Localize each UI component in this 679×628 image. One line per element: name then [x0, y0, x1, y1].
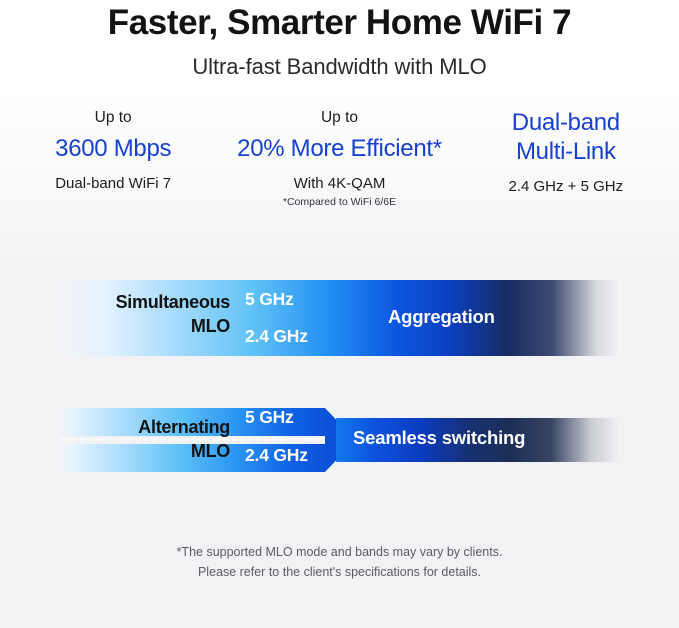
page-title: Faster, Smarter Home WiFi 7	[0, 2, 679, 44]
stat-value: 3600 Mbps	[6, 134, 220, 163]
outcome-label-seamless-switching: Seamless switching	[353, 427, 525, 449]
stat-value-line2: Multi-Link	[459, 137, 673, 166]
stats-row: Up to 3600 Mbps Dual-band WiFi 7 Up to 2…	[0, 108, 679, 209]
mlo-mode-label-line1: Alternating	[138, 417, 230, 437]
stat-subtitle: Dual-band WiFi 7	[6, 174, 220, 193]
infographic-page: Faster, Smarter Home WiFi 7 Ultra-fast B…	[0, 0, 679, 628]
stat-value-line1: Dual-band	[459, 108, 673, 137]
stat-subtitle: 2.4 GHz + 5 GHz	[459, 177, 673, 196]
footnote: *The supported MLO mode and bands may va…	[0, 542, 679, 582]
mlo-mode-label-line2: MLO	[60, 439, 230, 463]
footnote-line-1: *The supported MLO mode and bands may va…	[0, 542, 679, 562]
page-subtitle: Ultra-fast Bandwidth with MLO	[0, 54, 679, 80]
diagram-simultaneous-mlo: Simultaneous MLO 5 GHz 2.4 GHz Aggregati…	[0, 273, 679, 363]
stat-footnote: *Compared to WiFi 6/6E	[232, 196, 446, 209]
mlo-mode-label: Simultaneous MLO	[60, 290, 230, 338]
mlo-mode-label-line1: Simultaneous	[116, 292, 230, 312]
stat-value: 20% More Efficient*	[232, 134, 446, 163]
band-label-24ghz: 2.4 GHz	[245, 445, 308, 466]
stat-eyebrow: Up to	[232, 108, 446, 127]
mlo-mode-label: Alternating MLO	[60, 415, 230, 463]
stat-card-multilink: Dual-band Multi-Link 2.4 GHz + 5 GHz	[453, 108, 679, 196]
stat-card-bandwidth: Up to 3600 Mbps Dual-band WiFi 7	[0, 108, 226, 193]
footnote-line-2: Please refer to the client's specificati…	[0, 562, 679, 582]
band-label-24ghz: 2.4 GHz	[245, 326, 308, 347]
diagram-alternating-mlo: Alternating MLO 5 GHz 2.4 GHz Seamless s…	[0, 398, 679, 488]
mlo-mode-label-line2: MLO	[60, 314, 230, 338]
stat-card-efficiency: Up to 20% More Efficient* With 4K-QAM *C…	[226, 108, 452, 209]
stat-eyebrow: Up to	[6, 108, 220, 127]
band-label-5ghz: 5 GHz	[245, 407, 294, 428]
header: Faster, Smarter Home WiFi 7 Ultra-fast B…	[0, 0, 679, 80]
band-label-5ghz: 5 GHz	[245, 289, 294, 310]
stat-subtitle: With 4K-QAM	[232, 174, 446, 193]
outcome-label-aggregation: Aggregation	[388, 306, 495, 328]
